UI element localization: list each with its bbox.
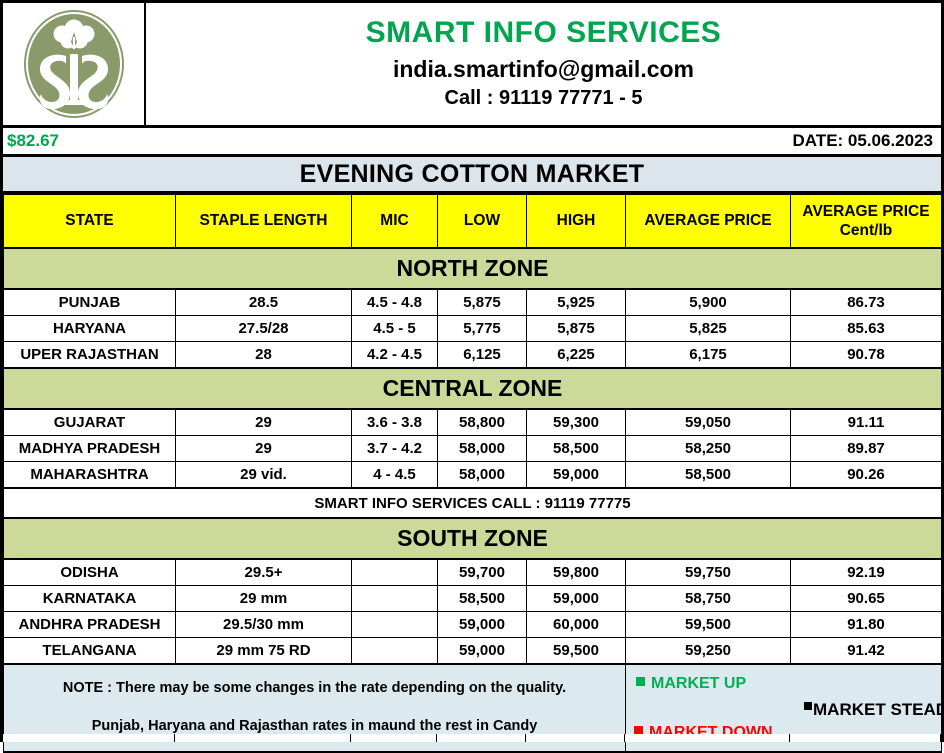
table-body: NORTH ZONEPUNJAB28.54.5 - 4.85,8755,9255… [4,248,942,752]
col-header-cent-line2: Cent/lb [791,221,941,240]
cell-staple-length: 28.5 [176,289,352,316]
col-header-cent-line1: AVERAGE PRICE [791,202,941,221]
table-row: PUNJAB28.54.5 - 4.85,8755,9255,90086.73 [4,289,942,316]
cell-average-price-cent: 91.11 [791,409,942,436]
legend-market-steady-label: MARKET STEADY [813,701,942,718]
cell-high: 59,800 [527,559,626,586]
sis-cotton-logo-icon [22,8,126,120]
report-date: DATE: 05.06.2023 [793,131,933,151]
brand-phone: Call : 91119 77771 - 5 [445,87,643,110]
cell-low: 5,775 [438,316,527,342]
cell-staple-length: 29 vid. [176,462,352,489]
cell-low: 5,875 [438,289,527,316]
cell-average-price-cent: 90.65 [791,586,942,612]
cell-average-price-cent: 85.63 [791,316,942,342]
sliver-cell [3,734,175,742]
cell-average-price: 6,175 [626,342,791,369]
quote-date-strip: $82.67 DATE: 05.06.2023 [3,128,941,157]
usd-quote: $82.67 [7,131,59,151]
cell-low: 58,000 [438,462,527,489]
market-steady-swatch-icon [804,702,812,710]
zone-header-row: SOUTH ZONE [4,518,942,559]
table-row: ANDHRA PRADESH29.5/30 mm59,00060,00059,5… [4,612,942,638]
cell-mic: 3.6 - 3.8 [352,409,438,436]
cell-state: MAHARASHTRA [4,462,176,489]
cell-state: ODISHA [4,559,176,586]
cell-average-price-cent: 90.78 [791,342,942,369]
sliver-cell [351,734,437,742]
col-header-state: STATE [4,194,176,248]
market-table: STATE STAPLE LENGTH MIC LOW HIGH AVERAGE… [3,193,942,753]
zone-title: CENTRAL ZONE [4,368,942,409]
cell-high: 59,500 [527,638,626,665]
partial-empty-row [3,734,941,742]
table-row: MADHYA PRADESH293.7 - 4.258,00058,50058,… [4,436,942,462]
cell-mic: 3.7 - 4.2 [352,436,438,462]
cell-staple-length: 29 [176,409,352,436]
cell-mic [352,638,438,665]
legend-market-up: MARKET UP [636,676,746,692]
cell-average-price-cent: 86.73 [791,289,942,316]
table-row: ODISHA29.5+59,70059,80059,75092.19 [4,559,942,586]
table-header-row: STATE STAPLE LENGTH MIC LOW HIGH AVERAGE… [4,194,942,248]
col-header-average-price-cent: AVERAGE PRICE Cent/lb [791,194,942,248]
cell-state: KARNATAKA [4,586,176,612]
legend-market-steady: MARKET STEADY [804,701,942,718]
cell-staple-length: 29 [176,436,352,462]
cell-average-price: 58,250 [626,436,791,462]
cell-high: 60,000 [527,612,626,638]
cell-average-price: 5,825 [626,316,791,342]
cell-mic [352,586,438,612]
cell-state: GUJARAT [4,409,176,436]
cell-average-price: 59,050 [626,409,791,436]
cell-mic: 4 - 4.5 [352,462,438,489]
cell-low: 59,000 [438,612,527,638]
sliver-cell [175,734,351,742]
col-header-low: LOW [438,194,527,248]
cell-low: 58,500 [438,586,527,612]
cell-mic [352,559,438,586]
cell-high: 5,875 [527,316,626,342]
market-up-swatch-icon [636,677,645,686]
note-line-1: NOTE : There may be some changes in the … [4,681,625,697]
brand-block: SMART INFO SERVICES india.smartinfo@gmai… [146,3,941,125]
cell-average-price: 5,900 [626,289,791,316]
table-row: MAHARASHTRA29 vid.4 - 4.558,00059,00058,… [4,462,942,489]
callout-text: SMART INFO SERVICES CALL : 91119 77775 [4,488,942,518]
cell-average-price-cent: 92.19 [791,559,942,586]
cell-high: 6,225 [527,342,626,369]
legend-market-up-label: MARKET UP [651,676,746,692]
cell-state: TELANGANA [4,638,176,665]
table-row: KARNATAKA29 mm58,50059,00058,75090.65 [4,586,942,612]
callout-row: SMART INFO SERVICES CALL : 91119 77775 [4,488,942,518]
cell-average-price: 59,750 [626,559,791,586]
zone-header-row: NORTH ZONE [4,248,942,289]
zone-title: SOUTH ZONE [4,518,942,559]
cell-average-price-cent: 91.80 [791,612,942,638]
cell-high: 59,000 [527,462,626,489]
cell-average-price: 59,500 [626,612,791,638]
cell-average-price: 59,250 [626,638,791,665]
report-banner: EVENING COTTON MARKET [3,157,941,193]
cell-state: HARYANA [4,316,176,342]
sliver-cell [437,734,526,742]
cell-state: PUNJAB [4,289,176,316]
cell-staple-length: 29 mm 75 RD [176,638,352,665]
cell-staple-length: 27.5/28 [176,316,352,342]
cell-high: 5,925 [527,289,626,316]
table-row: GUJARAT293.6 - 3.858,80059,30059,05091.1… [4,409,942,436]
cell-high: 58,500 [527,436,626,462]
col-header-average-price: AVERAGE PRICE [626,194,791,248]
sliver-cell [625,734,790,742]
zone-title: NORTH ZONE [4,248,942,289]
cell-state: MADHYA PRADESH [4,436,176,462]
cell-state: UPER RAJASTHAN [4,342,176,369]
sliver-cell [790,734,941,742]
zone-header-row: CENTRAL ZONE [4,368,942,409]
table-row: HARYANA27.5/284.5 - 55,7755,8755,82585.6… [4,316,942,342]
cell-low: 6,125 [438,342,527,369]
page-title: EVENING COTTON MARKET [300,160,645,189]
cell-average-price-cent: 90.26 [791,462,942,489]
cotton-market-report: SMART INFO SERVICES india.smartinfo@gmai… [0,0,944,742]
cell-staple-length: 29.5/30 mm [176,612,352,638]
table-row: UPER RAJASTHAN284.2 - 4.56,1256,2256,175… [4,342,942,369]
cell-mic [352,612,438,638]
cell-average-price-cent: 91.42 [791,638,942,665]
cell-staple-length: 28 [176,342,352,369]
masthead: SMART INFO SERVICES india.smartinfo@gmai… [3,3,941,128]
cell-average-price: 58,500 [626,462,791,489]
cell-mic: 4.5 - 5 [352,316,438,342]
cell-low: 58,000 [438,436,527,462]
cell-high: 59,000 [527,586,626,612]
note-line-2: Punjab, Haryana and Rajasthan rates in m… [4,719,625,735]
col-header-staple-length: STAPLE LENGTH [176,194,352,248]
cell-staple-length: 29.5+ [176,559,352,586]
logo-cell [3,3,146,125]
col-header-mic: MIC [352,194,438,248]
cell-low: 59,700 [438,559,527,586]
cell-mic: 4.2 - 4.5 [352,342,438,369]
cell-high: 59,300 [527,409,626,436]
cell-average-price: 58,750 [626,586,791,612]
cell-average-price-cent: 89.87 [791,436,942,462]
cell-mic: 4.5 - 4.8 [352,289,438,316]
col-header-high: HIGH [527,194,626,248]
brand-name: SMART INFO SERVICES [366,16,722,51]
cell-state: ANDHRA PRADESH [4,612,176,638]
sliver-cell [526,734,625,742]
cell-low: 59,000 [438,638,527,665]
cell-staple-length: 29 mm [176,586,352,612]
cell-low: 58,800 [438,409,527,436]
table-row: TELANGANA29 mm 75 RD59,00059,50059,25091… [4,638,942,665]
brand-email: india.smartinfo@gmail.com [393,56,694,82]
